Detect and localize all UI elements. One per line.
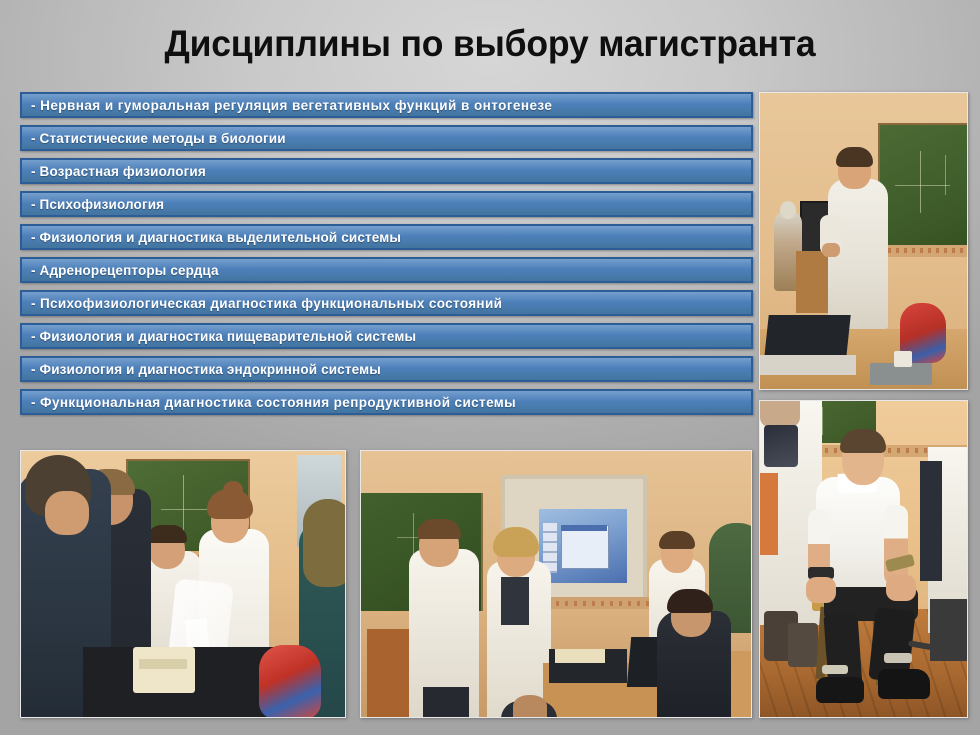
course-list: - Нервная и гуморальная регуляция вегета…: [20, 92, 753, 422]
list-item[interactable]: - Психофизиологическая диагностика функц…: [20, 290, 753, 316]
list-item[interactable]: - Физиология и диагностика эндокринной с…: [20, 356, 753, 382]
list-item[interactable]: - Нервная и гуморальная регуляция вегета…: [20, 92, 753, 118]
photo-content: [361, 451, 751, 717]
course-label: - Психофизиологическая диагностика функц…: [22, 296, 502, 311]
course-label: - Возрастная физиология: [22, 164, 206, 179]
list-item[interactable]: - Функциональная диагностика состояния р…: [20, 389, 753, 415]
course-label: - Функциональная диагностика состояния р…: [22, 395, 516, 410]
course-label: - Физиология и диагностика выделительной…: [22, 230, 401, 245]
list-item[interactable]: - Психофизиология: [20, 191, 753, 217]
photo-content: [760, 93, 967, 389]
course-label: - Психофизиология: [22, 197, 164, 212]
photo-lecturer-podium: [759, 92, 968, 390]
photo-seated-subject: [759, 400, 968, 718]
course-label: - Нервная и гуморальная регуляция вегета…: [22, 98, 552, 113]
course-label: - Физиология и диагностика эндокринной с…: [22, 362, 381, 377]
photo-students-equipment: [20, 450, 346, 718]
list-item[interactable]: - Физиология и диагностика выделительной…: [20, 224, 753, 250]
photo-classroom-projection: [360, 450, 752, 718]
course-label: - Статистические методы в биологии: [22, 131, 286, 146]
course-label: - Адренорецепторы сердца: [22, 263, 219, 278]
list-item[interactable]: - Статистические методы в биологии: [20, 125, 753, 151]
photo-content: [760, 401, 967, 717]
page-title: Дисциплины по выбору магистранта: [20, 22, 961, 66]
list-item[interactable]: - Физиология и диагностика пищеварительн…: [20, 323, 753, 349]
list-item[interactable]: - Возрастная физиология: [20, 158, 753, 184]
slide-canvas: Дисциплины по выбору магистранта - Нервн…: [0, 0, 980, 735]
photo-content: [21, 451, 345, 717]
course-label: - Физиология и диагностика пищеварительн…: [22, 329, 416, 344]
list-item[interactable]: - Адренорецепторы сердца: [20, 257, 753, 283]
